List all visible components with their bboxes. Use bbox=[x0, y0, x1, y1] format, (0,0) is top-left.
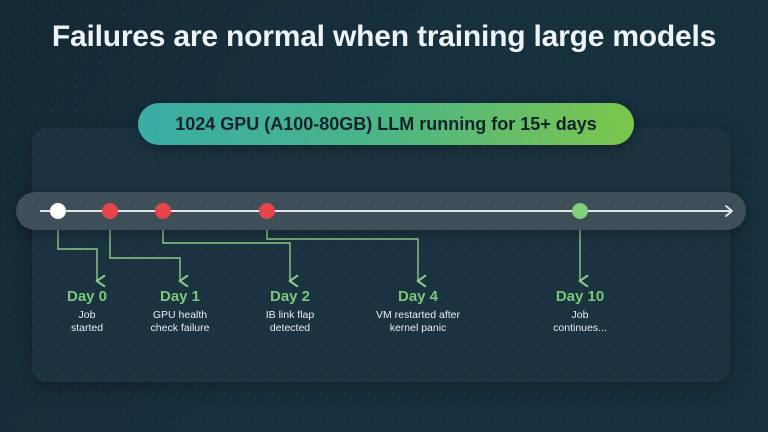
milestone-day-1-desc-line2: check failure bbox=[151, 322, 210, 334]
milestone-day-4-desc: VM restarted after kernel panic bbox=[348, 309, 488, 335]
timeline-marker-day-0[interactable] bbox=[50, 203, 66, 219]
milestone-day-10-desc-line1: Job bbox=[572, 309, 589, 321]
timeline-marker-day-10[interactable] bbox=[572, 203, 588, 219]
page-title: Failures are normal when training large … bbox=[0, 20, 768, 54]
milestone-day-4-desc-line1: VM restarted after bbox=[376, 309, 460, 321]
milestone-day-10-desc-line2: continues... bbox=[553, 322, 607, 334]
timeline-marker-day-1[interactable] bbox=[102, 203, 118, 219]
milestone-day-1-desc: GPU health check failure bbox=[120, 309, 240, 335]
milestone-day-2-desc: IB link flap detected bbox=[230, 309, 350, 335]
milestone-day-4-title: Day 4 bbox=[348, 288, 488, 306]
milestone-day-2-desc-line2: detected bbox=[270, 322, 310, 334]
milestone-day-0-desc-line1: Job bbox=[79, 309, 96, 321]
milestone-label-day-4[interactable]: Day 4 VM restarted after kernel panic bbox=[348, 288, 488, 335]
milestone-day-1-title: Day 1 bbox=[120, 288, 240, 306]
timeline-axis-line bbox=[40, 210, 732, 212]
milestone-day-10-desc: Job continues... bbox=[520, 309, 640, 335]
milestone-day-4-desc-line2: kernel panic bbox=[390, 322, 447, 334]
milestone-label-day-10[interactable]: Day 10 Job continues... bbox=[520, 288, 640, 335]
milestone-label-day-1[interactable]: Day 1 GPU health check failure bbox=[120, 288, 240, 335]
milestone-day-1-desc-line1: GPU health bbox=[153, 309, 207, 321]
milestone-day-2-desc-line1: IB link flap bbox=[266, 309, 314, 321]
arrow-right-icon bbox=[722, 203, 738, 219]
timeline-marker-day-2[interactable] bbox=[155, 203, 171, 219]
milestone-day-2-title: Day 2 bbox=[230, 288, 350, 306]
milestone-day-10-title: Day 10 bbox=[520, 288, 640, 306]
milestone-label-day-2[interactable]: Day 2 IB link flap detected bbox=[230, 288, 350, 335]
milestone-day-0-desc-line2: started bbox=[71, 322, 103, 334]
timeline-marker-day-4[interactable] bbox=[259, 203, 275, 219]
config-badge: 1024 GPU (A100-80GB) LLM running for 15+… bbox=[138, 103, 634, 145]
